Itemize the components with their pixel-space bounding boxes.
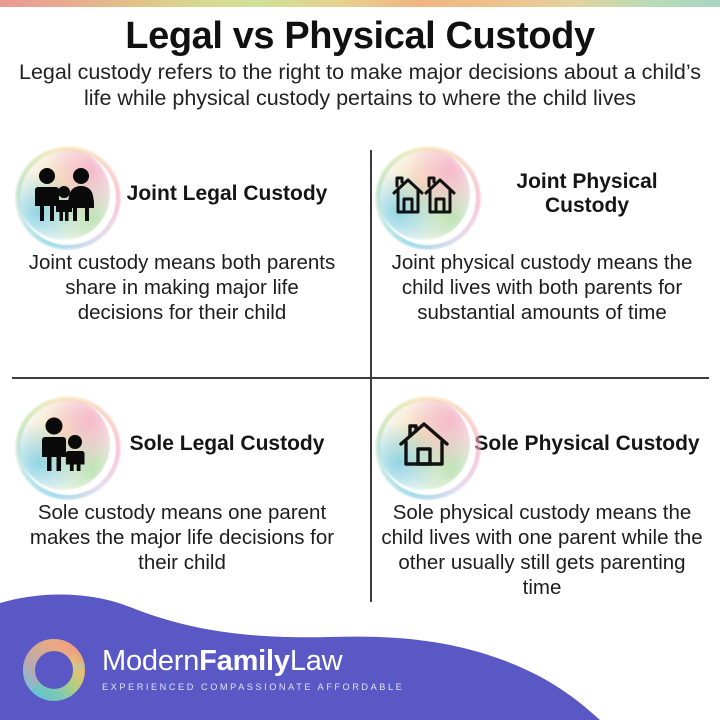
header: Legal vs Physical Custody Legal custody … bbox=[0, 8, 720, 112]
logo-text: ModernFamilyLaw EXPERIENCED COMPASSIONAT… bbox=[102, 647, 404, 694]
single-house-icon bbox=[378, 398, 470, 490]
quadrant-header: Sole Legal Custody bbox=[18, 396, 346, 492]
quadrant-sole-physical-custody: Sole Physical Custody Sole physical cust… bbox=[360, 396, 720, 600]
logo-word-law: Law bbox=[290, 645, 343, 677]
page-subtitle: Legal custody refers to the right to mak… bbox=[1, 59, 719, 112]
quadrant-header: Sole Physical Custody bbox=[378, 396, 706, 492]
logo-wordmark: ModernFamilyLaw bbox=[102, 647, 404, 676]
quadrant-header: Joint Legal Custody bbox=[18, 146, 346, 242]
icon-blob bbox=[18, 148, 110, 240]
parent-and-child-icon bbox=[18, 398, 110, 490]
quadrant-header: Joint Physical Custody bbox=[378, 146, 706, 242]
icon-blob bbox=[378, 398, 470, 490]
quadrant-grid: Joint Legal Custody Joint custody means … bbox=[0, 146, 720, 646]
modern-family-law-ring-icon bbox=[18, 634, 90, 706]
quadrant-body: Joint custody means both parents share i… bbox=[18, 242, 346, 325]
quadrant-body: Sole custody means one parent makes the … bbox=[18, 492, 346, 575]
quadrant-joint-legal-custody: Joint Legal Custody Joint custody means … bbox=[0, 146, 360, 325]
logo-word-family: Family bbox=[199, 645, 290, 677]
quadrant-title: Joint Physical Custody bbox=[470, 170, 706, 219]
quadrant-body: Joint physical custody means the child l… bbox=[378, 242, 706, 325]
quadrant-title: Sole Legal Custody bbox=[110, 432, 346, 456]
quadrant-joint-physical-custody: Joint Physical Custody Joint physical cu… bbox=[360, 146, 720, 325]
brand-logo: ModernFamilyLaw EXPERIENCED COMPASSIONAT… bbox=[18, 634, 404, 706]
family-of-three-icon bbox=[18, 148, 110, 240]
icon-blob bbox=[378, 148, 470, 240]
icon-blob bbox=[18, 398, 110, 490]
two-houses-icon bbox=[378, 148, 470, 240]
quadrant-sole-legal-custody: Sole Legal Custody Sole custody means on… bbox=[0, 396, 360, 575]
quadrant-title: Sole Physical Custody bbox=[470, 432, 706, 456]
logo-word-modern: Modern bbox=[102, 645, 199, 677]
top-gradient-bar bbox=[0, 0, 720, 7]
quadrant-title: Joint Legal Custody bbox=[110, 182, 346, 206]
logo-tagline: EXPERIENCED COMPASSIONATE AFFORDABLE bbox=[102, 682, 404, 692]
infographic-root: Legal vs Physical Custody Legal custody … bbox=[0, 0, 720, 720]
quadrant-body: Sole physical custody means the child li… bbox=[378, 492, 706, 600]
page-title: Legal vs Physical Custody bbox=[0, 16, 720, 57]
